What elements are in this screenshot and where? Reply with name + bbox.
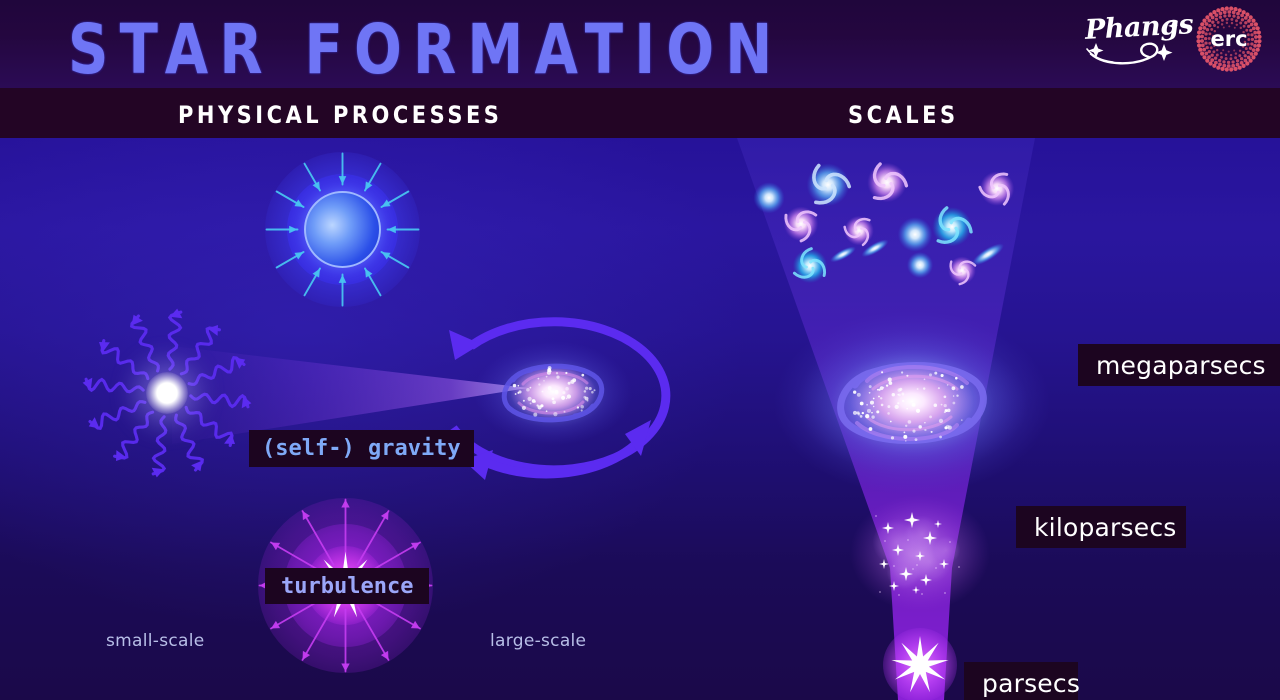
infographic-body: megaparsecs kiloparsecs parsecs: [0, 138, 1280, 700]
scale-label-kiloparsecs-text: kiloparsecs: [1034, 513, 1177, 542]
galaxy-field-svg: [735, 158, 1035, 288]
star-cluster-svg: [860, 498, 980, 608]
large-scale-galaxy-svg: [473, 336, 633, 451]
label-gravity-text: (self-) gravity: [262, 436, 461, 461]
gravity-inward-arrows: [265, 152, 420, 307]
turbulence-star-core: [146, 372, 188, 414]
scale-label-megaparsecs: megaparsecs: [1078, 344, 1280, 386]
large-scale-galaxy: [473, 336, 633, 451]
scale-label-kiloparsecs: kiloparsecs: [1016, 506, 1186, 548]
phangs-logo-text: Phangs: [1084, 9, 1194, 46]
section-title-scales: SCALES: [848, 101, 959, 129]
turbulent-squiggle-star-icon: [60, 308, 275, 493]
label-turbulence: turbulence: [265, 568, 429, 604]
scale-label-megaparsecs-text: megaparsecs: [1096, 351, 1266, 380]
scale-label-parsecs: parsecs: [964, 662, 1078, 700]
infographic-poster: STAR FORMATION Phangs erc PHYSICAL P: [0, 0, 1280, 700]
gravity-infall-sphere-icon: [265, 152, 420, 307]
label-turbulence-text: turbulence: [281, 574, 413, 599]
phangs-logo: Phangs: [1083, 8, 1181, 70]
caption-small-scale: small-scale: [106, 631, 205, 651]
scale-label-parsecs-text: parsecs: [982, 669, 1080, 698]
single-star-burst: [883, 628, 957, 700]
erc-logo-text: erc: [1196, 6, 1262, 72]
kpc-galaxy-svg: [795, 323, 1030, 483]
section-header-bar: PHYSICAL PROCESSES SCALES: [0, 88, 1280, 138]
caption-large-scale: large-scale: [490, 631, 586, 651]
galaxy-field-icon: [735, 158, 1035, 288]
erc-logo: erc: [1196, 6, 1262, 72]
single-spiral-galaxy-icon: [795, 323, 1030, 483]
section-title-physical-processes: PHYSICAL PROCESSES: [178, 101, 502, 129]
page-title: STAR FORMATION: [68, 9, 783, 88]
single-star-icon: [883, 628, 957, 700]
title-bar: STAR FORMATION Phangs erc: [0, 0, 1280, 88]
label-gravity: (self-) gravity: [249, 430, 474, 467]
star-cluster-icon: [860, 498, 980, 608]
